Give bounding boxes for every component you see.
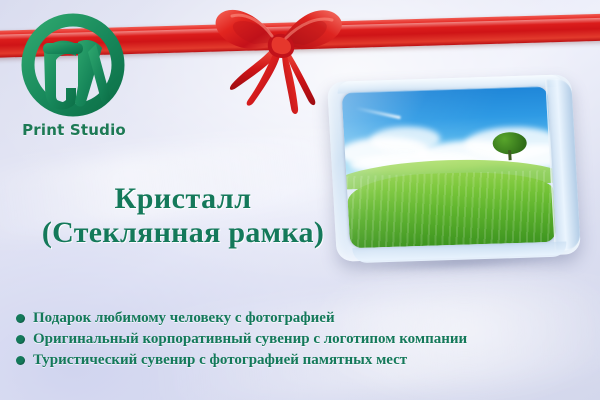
crystal-glass-frame (327, 74, 581, 261)
title-line-2: (Стеклянная рамка) (8, 216, 358, 250)
embedded-photo (342, 86, 557, 248)
bullet-dot-icon (16, 335, 25, 344)
brand-logo: Print Studio (18, 10, 130, 150)
product-image (332, 78, 584, 273)
promo-poster: Print Studio Кристалл (Стеклянная рамка)… (0, 0, 600, 400)
page-title: Кристалл (Стеклянная рамка) (8, 182, 358, 250)
list-item: Подарок любимому человеку с фотографией (16, 310, 576, 327)
list-item: Оригинальный корпоративный сувенир с лог… (16, 331, 576, 348)
bullet-dot-icon (16, 314, 25, 323)
list-item-label: Оригинальный корпоративный сувенир с лог… (33, 331, 467, 348)
list-item-label: Подарок любимому человеку с фотографией (33, 310, 335, 327)
list-item: Туристический сувенир с фотографией памя… (16, 352, 576, 369)
bullet-dot-icon (16, 356, 25, 365)
photo-gloss-overlay (342, 86, 557, 248)
logo-caption: Print Studio (18, 121, 130, 139)
feature-list: Подарок любимому человеку с фотографией … (16, 310, 576, 373)
ta-monogram-circle-icon (18, 10, 128, 122)
list-item-label: Туристический сувенир с фотографией памя… (33, 352, 407, 369)
title-line-1: Кристалл (8, 182, 358, 216)
